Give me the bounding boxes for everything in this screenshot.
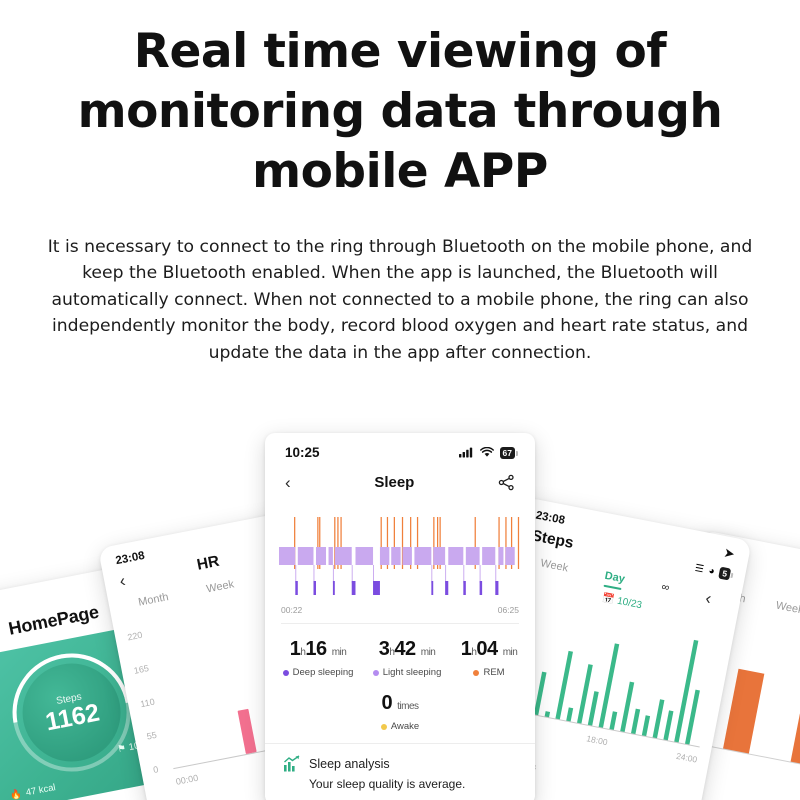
- flag-icon: ⚑: [117, 743, 127, 755]
- chevron-left-icon[interactable]: ‹: [704, 590, 713, 608]
- cellular-signal-icon: [459, 447, 474, 458]
- stat-light-sleeping: 3h42 min Light sleeping: [373, 638, 442, 678]
- y-tick: 0: [152, 762, 169, 775]
- sleep-stats-row: 1h16 min Deep sleeping 3h42 min Light sl…: [265, 638, 535, 678]
- x-tick: 18:00: [586, 733, 609, 747]
- divider: [281, 623, 519, 624]
- tab-week[interactable]: Week: [539, 557, 569, 574]
- page-description: It is necessary to connect to the ring t…: [45, 234, 755, 366]
- wifi-icon: ◕: [708, 565, 716, 577]
- light-minutes: 42: [394, 638, 415, 660]
- y-tick: 165: [133, 663, 150, 676]
- phone-screens-collage: 10:25 ‹ HomePage Steps 1162 ⚑ 10000 🔥 47…: [0, 415, 800, 800]
- sleep-title: Sleep: [374, 474, 414, 491]
- share-icon[interactable]: ∞: [660, 581, 670, 594]
- sleep-navbar: ‹ Sleep: [265, 460, 535, 497]
- stat-awake: 0 times Awake: [265, 692, 535, 732]
- battery-indicator: 5: [718, 567, 731, 581]
- rem-minutes: 04: [476, 638, 497, 660]
- stat-rem: 1h04 min REM: [461, 638, 518, 678]
- steps-ring-value: 1162: [43, 700, 101, 736]
- rem-label: REM: [483, 667, 504, 678]
- sleep-analysis-text: Your sleep quality is average.: [309, 777, 517, 791]
- sleep-hypnogram-chart: [279, 511, 521, 599]
- rem-hours: 1: [461, 638, 472, 660]
- legend-dot-awake: [381, 724, 387, 730]
- calories-value: 47 kcal: [25, 782, 57, 799]
- sleep-analysis-panel[interactable]: Sleep analysis Your sleep quality is ave…: [265, 743, 535, 800]
- deep-hours: 1: [290, 638, 301, 660]
- sleep-analysis-title: Sleep analysis: [309, 757, 390, 771]
- sleep-start-time: 00:22: [281, 605, 302, 615]
- cellular-signal-icon: ☰: [694, 562, 705, 575]
- location-arrow-icon: ➤: [723, 545, 735, 561]
- awake-label: Awake: [391, 721, 419, 732]
- share-icon[interactable]: [498, 474, 515, 491]
- chevron-left-icon[interactable]: ‹: [285, 474, 291, 491]
- sleep-end-time: 06:25: [498, 605, 519, 615]
- legend-dot-deep: [283, 670, 289, 676]
- light-label: Light sleeping: [383, 667, 442, 678]
- min-unit: min: [503, 647, 518, 658]
- min-unit: min: [421, 647, 436, 658]
- tab-day[interactable]: Day: [603, 570, 626, 591]
- y-tick: 110: [139, 696, 156, 709]
- legend-dot-rem: [473, 670, 479, 676]
- awake-unit: times: [397, 701, 418, 712]
- sleep-time-range: 00:22 06:25: [281, 605, 519, 615]
- calendar-icon: 📅: [601, 593, 615, 606]
- flame-icon: 🔥: [9, 789, 23, 800]
- calories-readout: 🔥 47 kcal: [9, 782, 56, 800]
- light-hours: 3: [379, 638, 390, 660]
- legend-dot-light: [373, 670, 379, 676]
- stat-deep-sleeping: 1h16 min Deep sleeping: [283, 638, 354, 678]
- y-tick: 220: [127, 630, 144, 643]
- promo-page: Real time viewing of monitoring data thr…: [0, 0, 800, 800]
- hr-bar: [238, 709, 257, 754]
- chevron-left-icon[interactable]: ‹: [118, 572, 127, 590]
- page-title: Real time viewing of monitoring data thr…: [60, 22, 740, 202]
- status-time: 10:25: [285, 445, 320, 460]
- awake-value: 0: [381, 692, 392, 714]
- battery-indicator: 67: [500, 447, 515, 459]
- tab-week[interactable]: Week: [205, 578, 235, 595]
- wifi-icon: [480, 447, 494, 458]
- min-unit: min: [332, 647, 347, 658]
- y-tick: 55: [146, 729, 163, 742]
- steps-date-value: 10/23: [616, 596, 643, 612]
- sleep-status-bar: 10:25 67: [265, 433, 535, 460]
- x-tick: 24:00: [675, 751, 698, 765]
- tab-month[interactable]: Month: [137, 591, 169, 609]
- chart-analysis-icon: [283, 755, 301, 773]
- deep-label: Deep sleeping: [293, 667, 354, 678]
- sleep-screen-card[interactable]: 10:25 67 ‹: [265, 433, 535, 800]
- deep-minutes: 16: [305, 638, 326, 660]
- tab-week[interactable]: Week: [775, 600, 800, 617]
- x-tick: 00:00: [175, 773, 199, 787]
